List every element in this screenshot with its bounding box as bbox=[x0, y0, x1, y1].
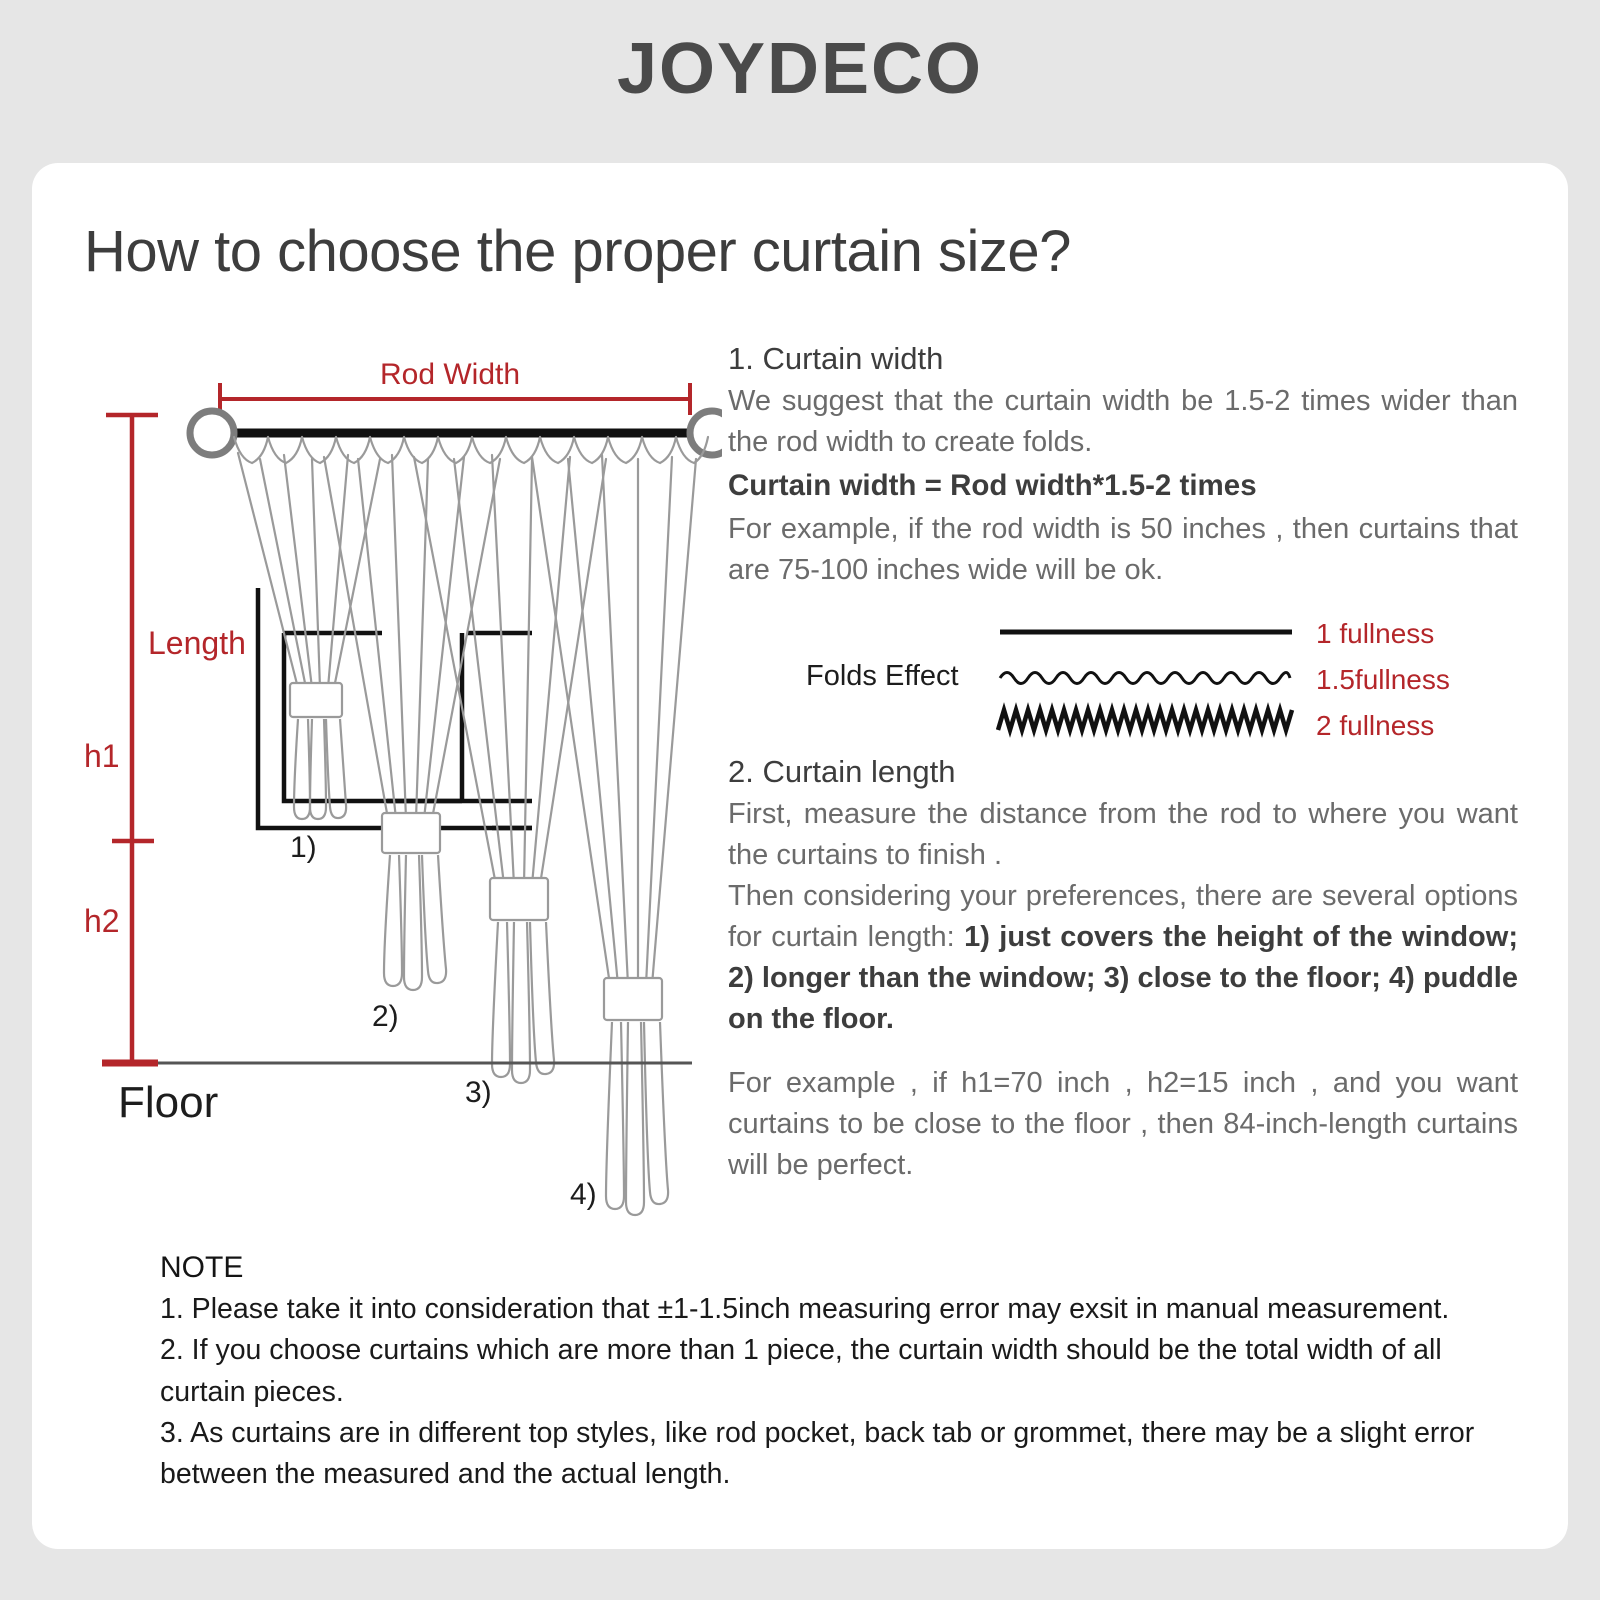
folds-effect-lines bbox=[996, 606, 1296, 746]
section1-paragraph-2: For example, if the rod width is 50 inch… bbox=[728, 509, 1518, 591]
fullness-line-zigzag bbox=[998, 710, 1292, 730]
section2-paragraph-1: First, measure the distance from the rod… bbox=[728, 794, 1518, 876]
note-item: 1. Please take it into consideration tha… bbox=[160, 1289, 1535, 1330]
option-label-4: 4) bbox=[570, 1178, 597, 1212]
curtain-option-3 bbox=[490, 878, 554, 1083]
curtain-rod bbox=[190, 411, 722, 455]
folds-effect-legend: Folds Effect 1 fullness 1.5fullness 2 fu… bbox=[728, 606, 1518, 746]
instructions-column: 1. Curtain width We suggest that the cur… bbox=[728, 341, 1518, 1186]
section-curtain-width: 1. Curtain width We suggest that the cur… bbox=[728, 341, 1518, 592]
note-item: 2. If you choose curtains which are more… bbox=[160, 1330, 1535, 1413]
section-curtain-length: 2. Curtain length First, measure the dis… bbox=[728, 754, 1518, 1187]
h2-label: h2 bbox=[84, 903, 120, 940]
curtain-option-4 bbox=[604, 978, 668, 1215]
floor-label: Floor bbox=[118, 1078, 218, 1128]
section2-paragraph-3: For example , if h1=70 inch , h2=15 inch… bbox=[728, 1063, 1518, 1187]
curtain-option-1 bbox=[290, 683, 346, 819]
option-label-3: 3) bbox=[465, 1076, 492, 1110]
option-label-2: 2) bbox=[372, 1000, 399, 1034]
page-title: How to choose the proper curtain size? bbox=[84, 218, 1071, 285]
curtain-option-2 bbox=[382, 813, 446, 990]
note-item: 3. As curtains are in different top styl… bbox=[160, 1413, 1535, 1496]
section1-formula: Curtain width = Rod width*1.5-2 times bbox=[728, 465, 1518, 507]
length-label: Length bbox=[148, 625, 246, 662]
rod-width-label: Rod Width bbox=[380, 358, 520, 392]
content-card: How to choose the proper curtain size? bbox=[32, 163, 1568, 1549]
section2-paragraph-2: Then considering your preferences, there… bbox=[728, 876, 1518, 1041]
infographic-root: JOYDECO How to choose the proper curtain… bbox=[0, 0, 1600, 1600]
note-section: NOTE 1. Please take it into consideratio… bbox=[160, 1251, 1535, 1496]
brand-title: JOYDECO bbox=[0, 28, 1600, 110]
note-title: NOTE bbox=[160, 1251, 1535, 1285]
fullness-label-1: 1 fullness bbox=[1316, 618, 1434, 650]
section2-heading: 2. Curtain length bbox=[728, 754, 1518, 790]
fullness-line-wavy bbox=[1000, 672, 1290, 683]
section1-heading: 1. Curtain width bbox=[728, 341, 1518, 377]
h1-label: h1 bbox=[84, 738, 120, 775]
option-label-1: 1) bbox=[290, 831, 317, 865]
fullness-label-2: 1.5fullness bbox=[1316, 664, 1450, 696]
folds-effect-label: Folds Effect bbox=[806, 660, 959, 693]
section1-paragraph-1: We suggest that the curtain width be 1.5… bbox=[728, 381, 1518, 463]
fullness-label-3: 2 fullness bbox=[1316, 710, 1434, 742]
